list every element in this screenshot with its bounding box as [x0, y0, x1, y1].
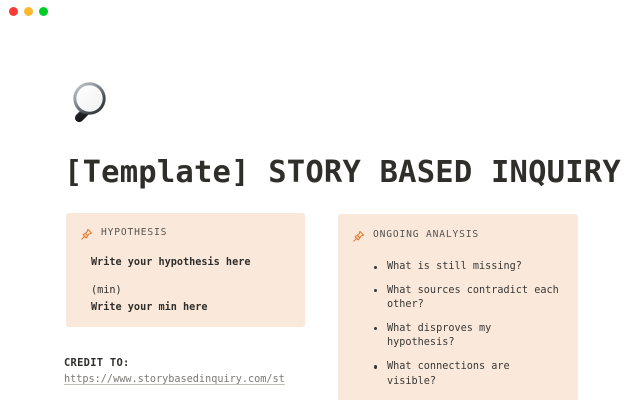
app-window: [Template] STORY BASED INQUIRY HYPOTHESI… [0, 0, 640, 400]
ongoing-analysis-card-header: ONGOING ANALYSIS [352, 227, 564, 241]
hypothesis-card-header: HYPOTHESIS [80, 225, 291, 239]
hypothesis-card-title: HYPOTHESIS [101, 227, 167, 238]
magnifying-glass-icon [64, 74, 122, 132]
ongoing-analysis-card[interactable]: ONGOING ANALYSIS What is still missing? … [338, 214, 578, 400]
list-item: What is still missing? [374, 260, 564, 275]
pin-icon [352, 228, 365, 241]
credit-section: CREDIT TO: https://www.storybasedinquiry… [64, 355, 308, 388]
hypothesis-min-line: Write your min here [91, 299, 291, 316]
hypothesis-card[interactable]: HYPOTHESIS Write your hypothesis here (m… [66, 213, 305, 327]
list-item: What sources contradict each other? [374, 284, 564, 313]
list-item-label: What disproves my hypothesis? [387, 322, 564, 351]
maximize-window-button[interactable] [39, 7, 48, 16]
minimize-window-button[interactable] [24, 7, 33, 16]
list-item: What connections are visible? [374, 360, 564, 389]
list-item-label: What sources contradict each other? [387, 284, 564, 313]
credit-label: CREDIT TO: [64, 355, 308, 371]
hypothesis-card-body: Write your hypothesis here (min) Write y… [80, 254, 291, 316]
ongoing-analysis-question-list: What is still missing? What sources cont… [352, 260, 564, 389]
page-content: [Template] STORY BASED INQUIRY HYPOTHESI… [0, 26, 640, 400]
window-controls [9, 7, 48, 16]
hypothesis-min-label: (min) [91, 282, 291, 299]
hypothesis-line: Write your hypothesis here [91, 254, 291, 271]
list-item: What disproves my hypothesis? [374, 322, 564, 351]
list-item-label: What connections are visible? [387, 360, 564, 389]
credit-link[interactable]: https://www.storybasedinquiry.com/st [64, 371, 308, 388]
ongoing-analysis-card-title: ONGOING ANALYSIS [373, 229, 479, 240]
close-window-button[interactable] [9, 7, 18, 16]
list-item-label: What is still missing? [387, 260, 564, 275]
title-bar [0, 0, 640, 26]
pin-icon [80, 226, 93, 239]
page-title: [Template] STORY BASED INQUIRY [64, 155, 624, 190]
